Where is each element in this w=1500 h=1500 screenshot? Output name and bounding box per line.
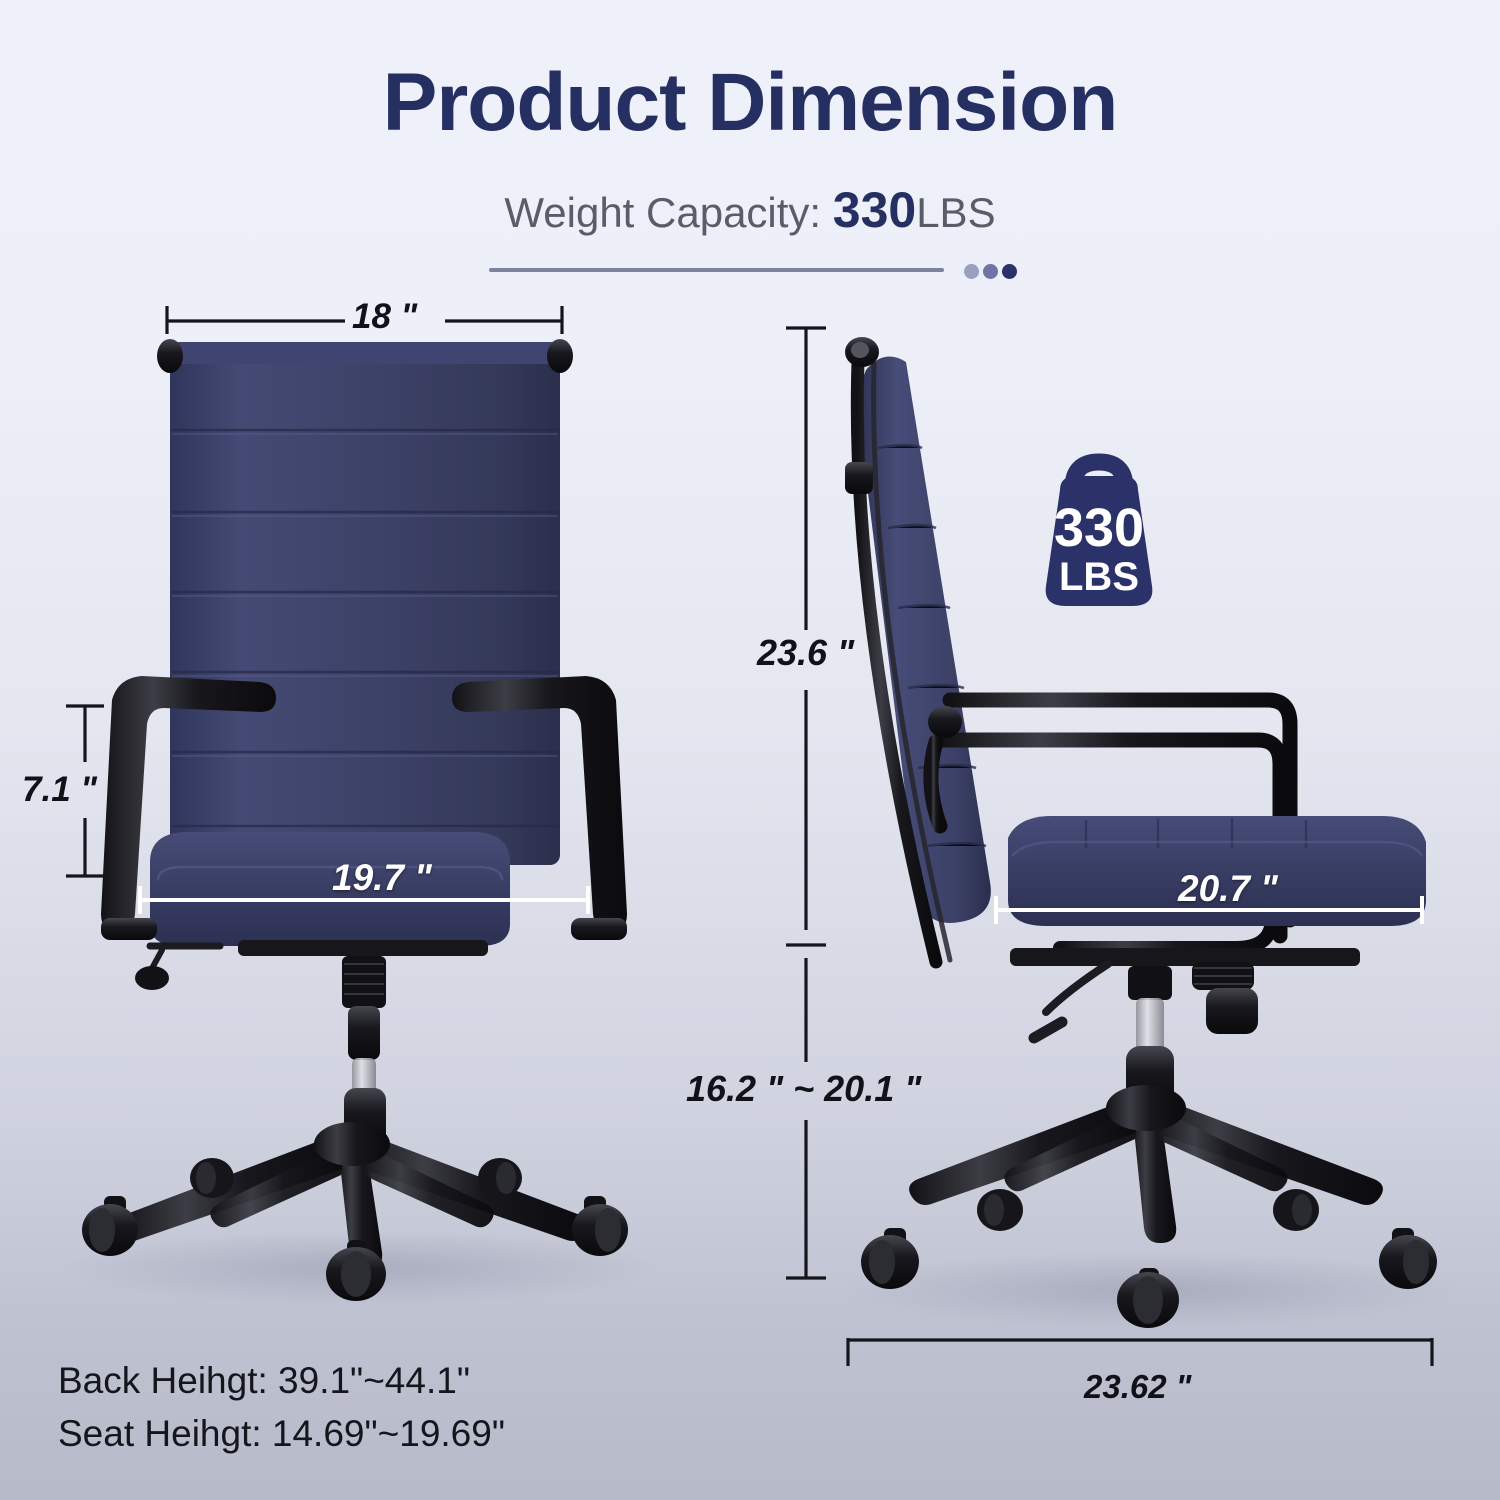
label-seatheight-range: 16.2 " ~ 20.1 " [686,1068,921,1110]
footer-seat-height: Seat Heihgt: 14.69"~19.69" [58,1408,505,1461]
chairs-illustration: 330 LBS [0,0,1500,1500]
label-backheight-236: 23.6 " [757,632,854,674]
label-backgap-71: 7.1 " [22,770,97,810]
label-basewidth-2362: 23.62 " [1084,1368,1191,1406]
side-view-chair [840,337,1460,1328]
front-view-chair [60,339,660,1306]
footer-specs: Back Heihgt: 39.1"~44.1" Seat Heihgt: 14… [58,1355,505,1460]
label-seatdepth-207: 20.7 " [1178,868,1278,910]
infographic-canvas: Product Dimension Weight Capacity: 330LB… [0,0,1500,1500]
weight-capacity-badge: 330 LBS [1046,462,1153,606]
badge-value: 330 [1054,498,1144,558]
label-seatwidth-197: 19.7 " [332,857,432,899]
badge-unit: LBS [1059,555,1139,599]
dimension-line-basewidth-2362 [848,1338,1432,1366]
label-width-18: 18 " [352,297,417,337]
footer-back-height: Back Heihgt: 39.1"~44.1" [58,1355,505,1408]
dimension-line-heights [786,328,826,1278]
